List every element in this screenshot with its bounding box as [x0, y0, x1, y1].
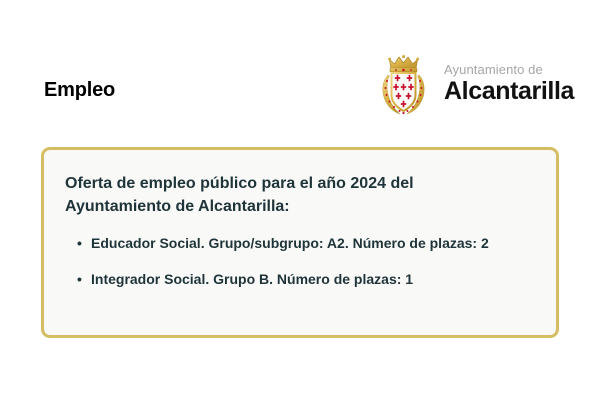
brand-logo[interactable]: Ayuntamiento de Alcantarilla: [376, 52, 574, 118]
list-item-label: Integrador Social. Grupo B. Número de pl…: [91, 271, 413, 287]
job-offer-card: Oferta de empleo público para el año 202…: [41, 147, 559, 338]
alcantarilla-coat-of-arms-icon: [376, 52, 434, 118]
job-offer-heading: Oferta de empleo público para el año 202…: [65, 172, 505, 218]
job-offer-list: • Educador Social. Grupo/subgrupo: A2. N…: [65, 234, 530, 290]
brand-line-ayuntamiento: Ayuntamiento de: [444, 63, 543, 76]
list-item-label: Educador Social. Grupo/subgrupo: A2. Núm…: [91, 235, 489, 251]
page-header: Empleo: [0, 0, 600, 140]
list-item: • Educador Social. Grupo/subgrupo: A2. N…: [91, 234, 521, 254]
page-title: Empleo: [44, 80, 115, 100]
brand-line-alcantarilla: Alcantarilla: [444, 79, 574, 104]
brand-text: Ayuntamiento de Alcantarilla: [444, 63, 574, 108]
list-item: • Integrador Social. Grupo B. Número de …: [91, 270, 521, 290]
bullet-icon: •: [77, 270, 82, 290]
job-offer-card-inner: Oferta de empleo público para el año 202…: [44, 150, 556, 290]
bullet-icon: •: [77, 234, 82, 254]
